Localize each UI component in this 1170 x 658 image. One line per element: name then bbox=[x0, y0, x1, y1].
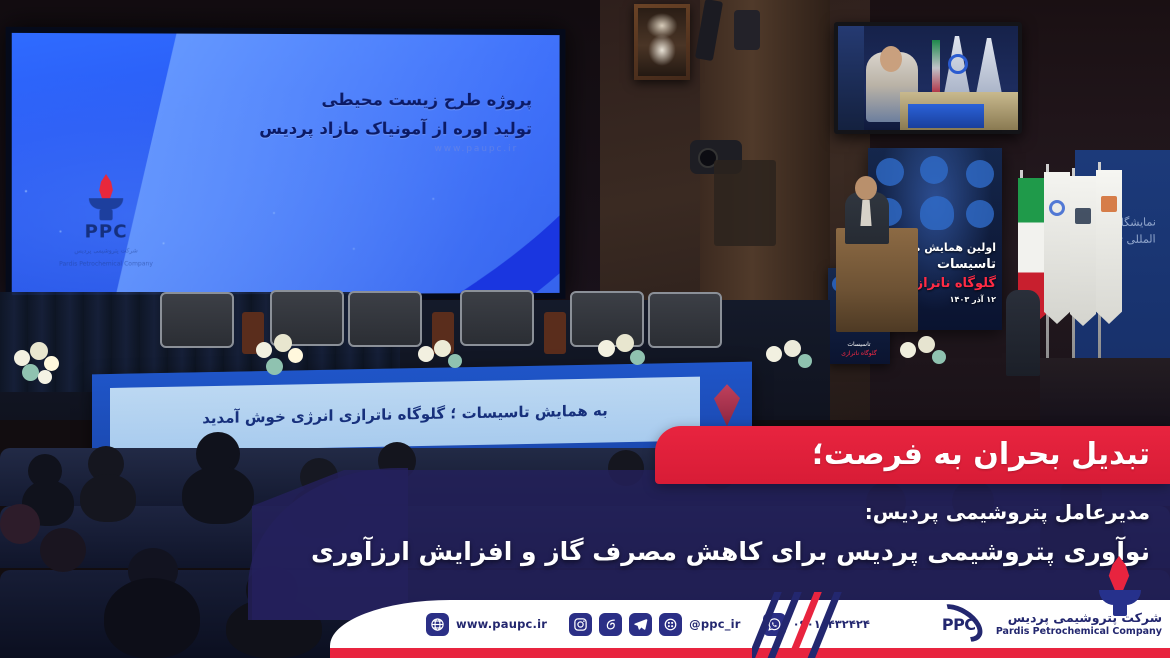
speaker-head bbox=[855, 176, 877, 200]
framed-portrait bbox=[634, 4, 690, 80]
headline-attribution: مدیرعامل پتروشیمی پردیس: bbox=[865, 500, 1150, 524]
corporate-flag bbox=[1044, 172, 1070, 324]
tv-monitor bbox=[834, 22, 1022, 134]
flower-arrangement bbox=[760, 336, 828, 390]
bottom-contact-bar: www.paupc.ir bbox=[330, 600, 1170, 648]
flower-arrangement bbox=[590, 330, 658, 384]
diagonal-stripes-decoration bbox=[752, 592, 872, 658]
headline-kicker-banner: تبدیل بحران به فرصت؛ bbox=[655, 426, 1170, 484]
flower-arrangement bbox=[892, 330, 960, 384]
headline-kicker: تبدیل بحران به فرصت؛ bbox=[655, 440, 1150, 470]
aparat-icon[interactable] bbox=[659, 613, 682, 636]
press-desk bbox=[1040, 358, 1170, 428]
slide-title-line1: پروژه طرح زیست محیطی bbox=[204, 86, 532, 115]
telegram-icon[interactable] bbox=[629, 613, 652, 636]
flower-arrangement bbox=[250, 330, 318, 384]
speaker-cabinet bbox=[714, 160, 776, 246]
corporate-flag bbox=[1070, 176, 1096, 326]
slide-title: پروژه طرح زیست محیطی تولید اوره از آمونی… bbox=[204, 86, 532, 144]
slide-logo-sub-fa: شرکت پتروشیمی پردیس bbox=[46, 246, 165, 255]
bottom-red-strip bbox=[330, 648, 1170, 658]
globe-icon[interactable] bbox=[426, 613, 449, 636]
standing-attendee bbox=[1006, 290, 1040, 376]
flower-arrangement bbox=[8, 336, 76, 390]
ceiling-light bbox=[734, 10, 760, 50]
slide-logo-text: PPC bbox=[46, 221, 165, 242]
poster-small-accent: گلوگاه ناترازی bbox=[832, 350, 886, 358]
portrait-image bbox=[638, 8, 686, 76]
projection-screen-surface: پروژه طرح زیست محیطی تولید اوره از آمونی… bbox=[12, 33, 560, 295]
projection-screen: پروژه طرح زیست محیطی تولید اوره از آمونی… bbox=[6, 27, 566, 301]
video-frame: نمایشگاه بین المللی تهران پروژه طرح زیست… bbox=[0, 0, 1170, 658]
brand-name-en: Pardis Petrochemical Company bbox=[996, 626, 1162, 638]
ppc-logo-text: PPC bbox=[942, 615, 976, 634]
poster-small-main: تاسیسات bbox=[847, 341, 870, 348]
website-url[interactable]: www.paupc.ir bbox=[456, 617, 547, 631]
stage-chairs bbox=[150, 290, 570, 354]
torch-flame-icon bbox=[84, 174, 128, 220]
slide-logo: PPC شرکت پتروشیمی پردیس Pardis Petrochem… bbox=[46, 174, 165, 269]
headline-statement: نوآوری پتروشیمی پردیس برای کاهش مصرف گاز… bbox=[260, 536, 1150, 569]
eitaa-icon[interactable] bbox=[599, 613, 622, 636]
instagram-icon[interactable] bbox=[569, 613, 592, 636]
social-handle[interactable]: @ppc_ir bbox=[689, 617, 741, 631]
tv-screen-content bbox=[838, 26, 1018, 130]
ppc-logo-icon: PPC bbox=[933, 604, 989, 644]
slide-title-line2: تولید اوره از آمونیاک مازاد پردیس bbox=[204, 115, 532, 144]
slide-logo-sub-en: Pardis Petrochemical Company bbox=[46, 259, 165, 268]
slide-url: www.paupc.ir bbox=[434, 144, 518, 154]
flower-arrangement bbox=[410, 334, 478, 388]
corporate-flag bbox=[1096, 170, 1122, 324]
ppc-flame-icon bbox=[1096, 556, 1146, 618]
